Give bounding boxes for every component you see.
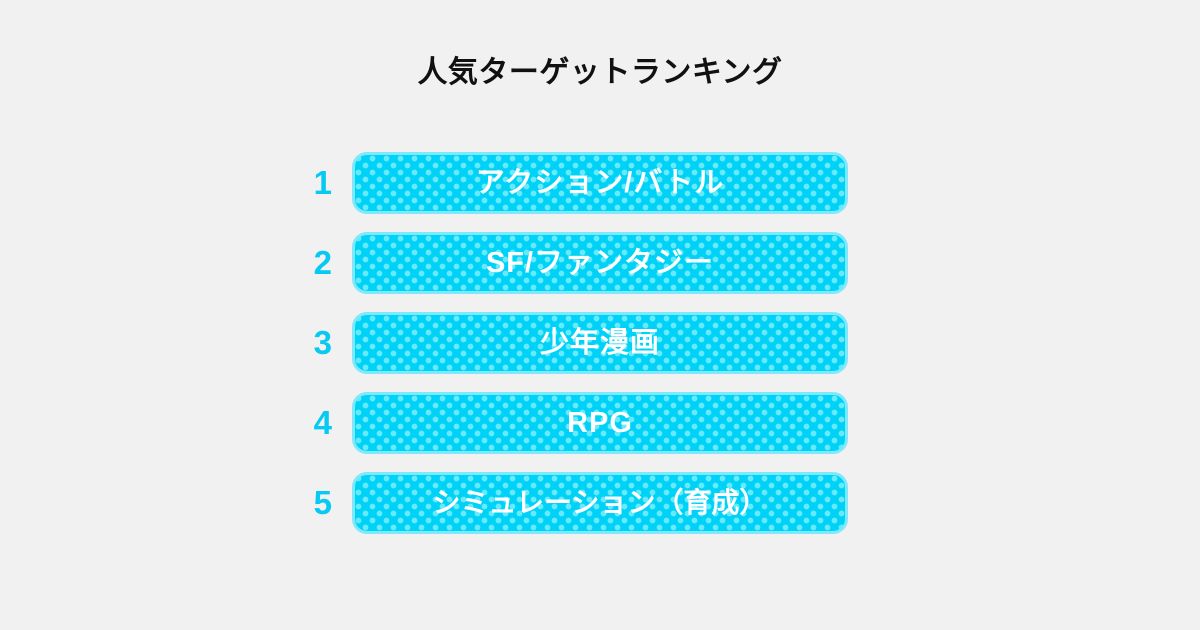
ranking-item-3[interactable]: 3 少年漫画	[0, 312, 1200, 374]
rank-pill[interactable]: シミュレーション（育成）	[352, 472, 848, 534]
rank-number: 5	[290, 472, 332, 534]
ranking-item-2[interactable]: 2 SF/ファンタジー	[0, 232, 1200, 294]
ranking-item-4[interactable]: 4 RPG	[0, 392, 1200, 454]
rank-label: RPG	[561, 395, 639, 451]
rank-number: 2	[290, 232, 332, 294]
rank-label: 少年漫画	[534, 315, 666, 371]
rank-pill[interactable]: SF/ファンタジー	[352, 232, 848, 294]
rank-label: シミュレーション（育成）	[431, 475, 770, 531]
rank-label: SF/ファンタジー	[480, 235, 720, 291]
ranking-item-1[interactable]: 1 アクション/バトル	[0, 152, 1200, 214]
ranking-item-5[interactable]: 5 シミュレーション（育成）	[0, 472, 1200, 534]
rank-label: アクション/バトル	[470, 155, 730, 211]
rank-number: 4	[290, 392, 332, 454]
page-title: 人気ターゲットランキング	[0, 52, 1200, 94]
rank-number: 1	[290, 152, 332, 214]
rank-number: 3	[290, 312, 332, 374]
ranking-poster: 人気ターゲットランキング 1 アクション/バトル 2 SF/ファンタジー 3 少…	[0, 0, 1200, 630]
ranking-list: 1 アクション/バトル 2 SF/ファンタジー 3 少年漫画 4 RPG 5	[0, 152, 1200, 534]
rank-pill[interactable]: アクション/バトル	[352, 152, 848, 214]
rank-pill[interactable]: 少年漫画	[352, 312, 848, 374]
rank-pill[interactable]: RPG	[352, 392, 848, 454]
